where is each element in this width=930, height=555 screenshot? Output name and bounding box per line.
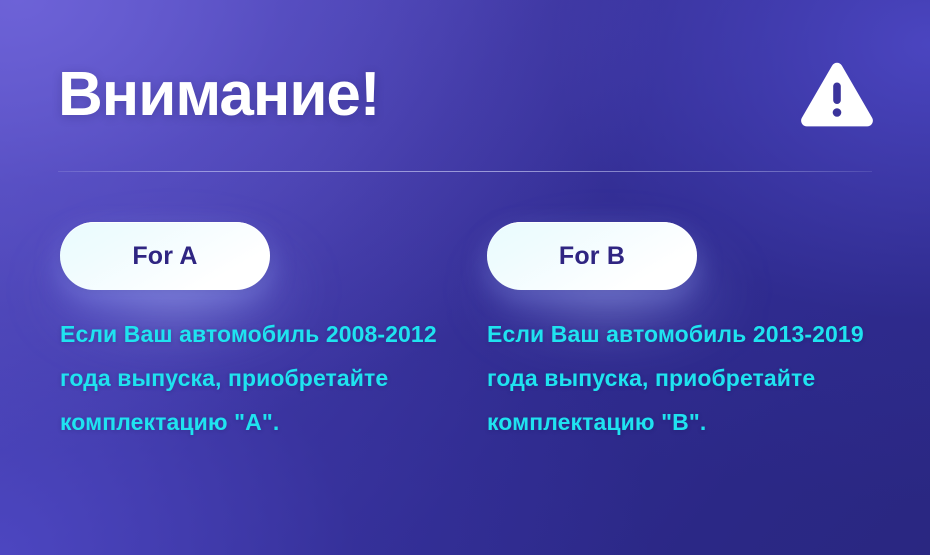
warning-triangle-icon	[800, 62, 874, 128]
options-columns: For A Если Ваш автомобиль 2008-2012 года…	[60, 222, 872, 444]
banner-header: Внимание!	[58, 52, 874, 138]
for-b-button[interactable]: For B	[487, 222, 697, 290]
option-column-a: For A Если Ваш автомобиль 2008-2012 года…	[60, 222, 445, 444]
option-b-description: Если Ваш автомобиль 2013-2019 года выпус…	[487, 290, 867, 444]
header-divider	[58, 171, 872, 172]
option-a-description: Если Ваш автомобиль 2008-2012 года выпус…	[60, 290, 440, 444]
page-title: Внимание!	[58, 64, 380, 126]
for-a-button[interactable]: For A	[60, 222, 270, 290]
option-column-b: For B Если Ваш автомобиль 2013-2019 года…	[487, 222, 872, 444]
attention-banner: Внимание! For A Если Ваш автомобиль 2008…	[0, 0, 930, 555]
